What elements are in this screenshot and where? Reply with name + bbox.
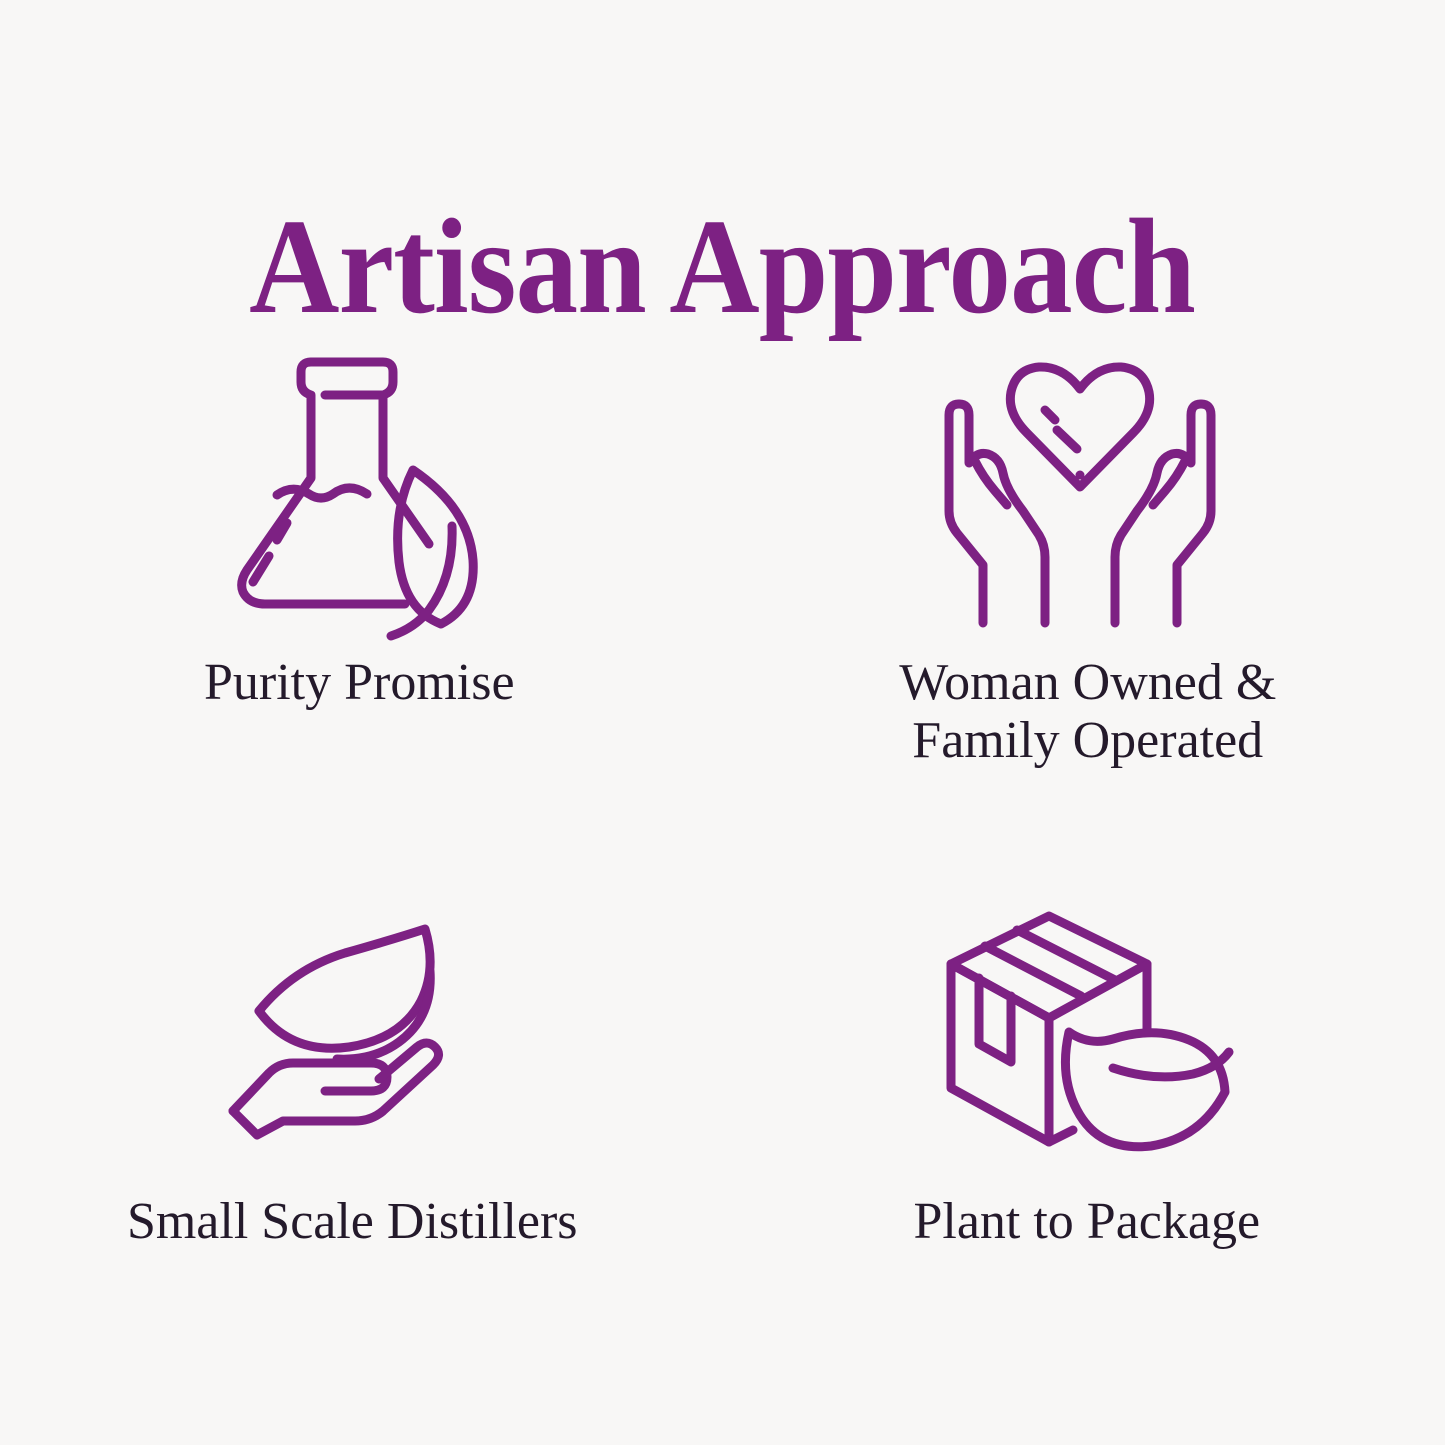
- feature-label: Plant to Package: [913, 1193, 1260, 1251]
- feature-label: Small Scale Distillers: [127, 1193, 578, 1251]
- feature-grid: Purity Promise: [0, 330, 1445, 1370]
- page-title: Artisan Approach: [250, 199, 1196, 335]
- feature-item-small-scale-distillers: Small Scale Distillers: [0, 850, 723, 1370]
- feature-item-woman-owned: Woman Owned & Family Operated: [723, 330, 1445, 850]
- hands-holding-heart-icon: [930, 348, 1230, 638]
- feature-item-plant-to-package: Plant to Package: [723, 850, 1445, 1370]
- box-leaf-icon: [956, 898, 1216, 1163]
- artisan-approach-graphic: Artisan Approach: [0, 0, 1445, 1445]
- feature-label: Woman Owned & Family Operated: [899, 654, 1276, 770]
- flask-leaf-icon: [217, 348, 517, 638]
- feature-item-purity-promise: Purity Promise: [0, 330, 723, 850]
- hand-holding-leaf-icon: [223, 898, 483, 1163]
- feature-label: Purity Promise: [204, 654, 515, 712]
